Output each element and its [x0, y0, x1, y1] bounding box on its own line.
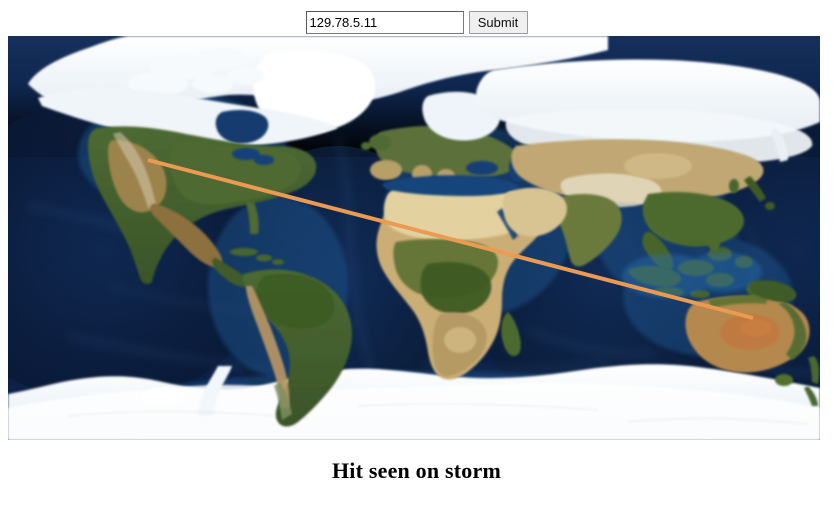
- ip-lookup-form: Submit: [0, 0, 833, 36]
- caption-text: Hit seen on storm: [332, 458, 501, 484]
- submit-button[interactable]: Submit: [469, 11, 528, 34]
- world-map-svg: [8, 36, 820, 440]
- ip-address-input[interactable]: [306, 11, 464, 34]
- world-map[interactable]: [8, 36, 820, 440]
- caption-bar: Hit seen on storm: [0, 440, 833, 505]
